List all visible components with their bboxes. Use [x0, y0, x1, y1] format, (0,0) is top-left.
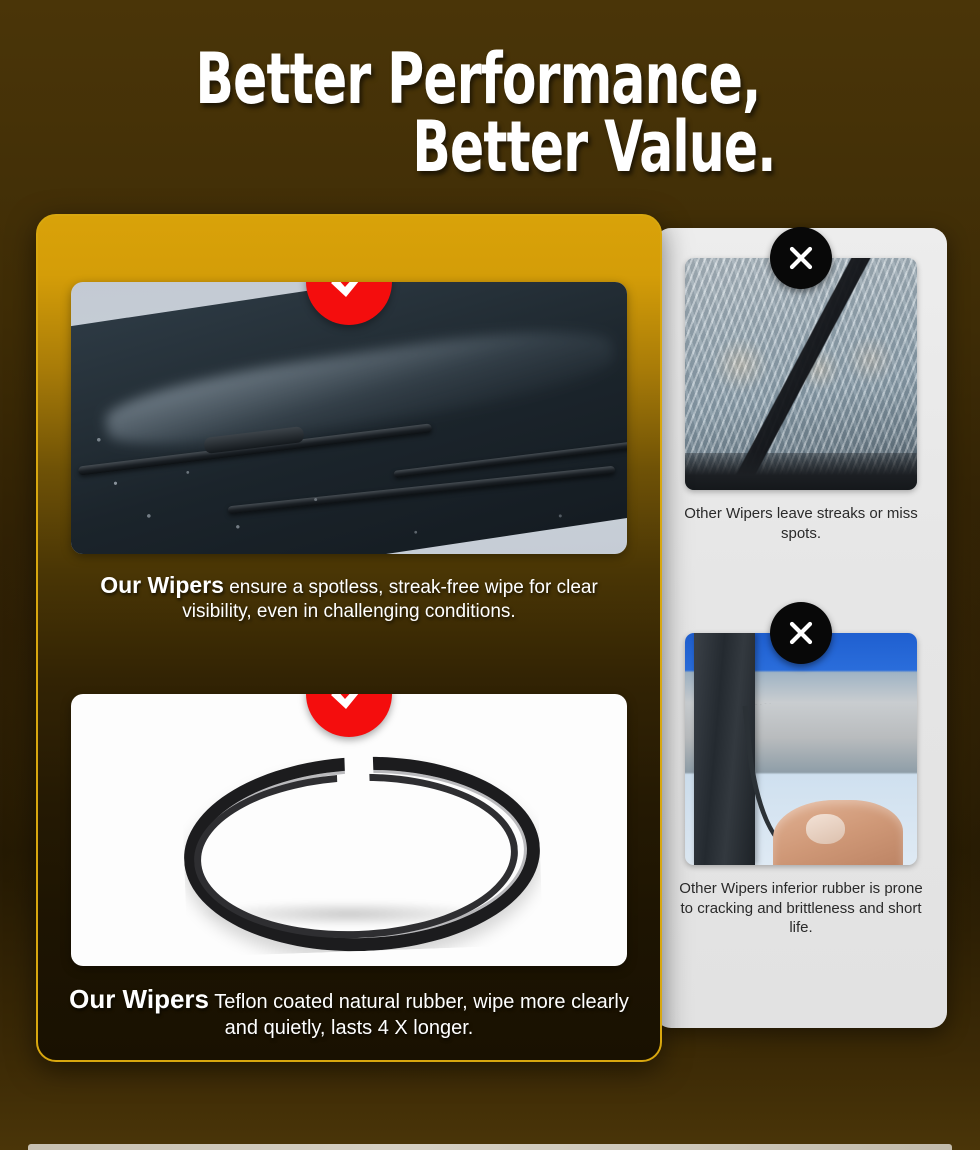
our-wipers-item-1: Our Wipers ensure a spotless, streak-fre…: [38, 216, 660, 624]
next-section-sliver: [28, 1144, 952, 1150]
headline-line-1: Better Performance,: [98, 46, 882, 114]
streaky-windshield-image: [685, 258, 917, 490]
other-wipers-card: Other Wipers leave streaks or miss spots…: [655, 228, 947, 1028]
our-wipers-card: Our Wipers ensure a spotless, streak-fre…: [36, 214, 662, 1062]
other-wipers-item-2: Other Wipers inferior rubber is prone to…: [655, 633, 947, 938]
wiper-blade-shape: [694, 633, 754, 865]
other-wipers-caption-2: Other Wipers inferior rubber is prone to…: [679, 879, 923, 938]
our-wipers-item-2: Our Wipers Teflon coated natural rubber,…: [38, 624, 660, 1041]
page-title: Better Performance, Better Value.: [0, 46, 980, 182]
cracked-rubber-graphic: [685, 633, 917, 865]
streaky-windshield-graphic: [685, 258, 917, 490]
our-wipers-caption-2: Our Wipers Teflon coated natural rubber,…: [66, 983, 632, 1041]
our-wipers-lead-1: Our Wipers: [100, 572, 224, 598]
clean-windshield-image: [71, 282, 627, 554]
rubber-refill-image: [71, 694, 627, 966]
headline-line-2: Better Value.: [98, 114, 882, 182]
x-icon: [770, 227, 832, 289]
other-wipers-caption-1: Other Wipers leave streaks or miss spots…: [679, 504, 923, 543]
other-wipers-item-1: Other Wipers leave streaks or miss spots…: [655, 258, 947, 543]
x-icon: [770, 602, 832, 664]
our-wipers-lead-2: Our Wipers: [69, 984, 209, 1014]
cracked-rubber-image: [685, 633, 917, 865]
fingernail-shape: [806, 814, 845, 844]
our-wipers-body-1: ensure a spotless, streak-free wipe for …: [182, 577, 598, 622]
our-wipers-body-2: Teflon coated natural rubber, wipe more …: [209, 991, 629, 1039]
our-wipers-caption-1: Our Wipers ensure a spotless, streak-fre…: [66, 571, 632, 624]
promo-poster: Better Performance, Better Value. Other …: [0, 0, 980, 1150]
